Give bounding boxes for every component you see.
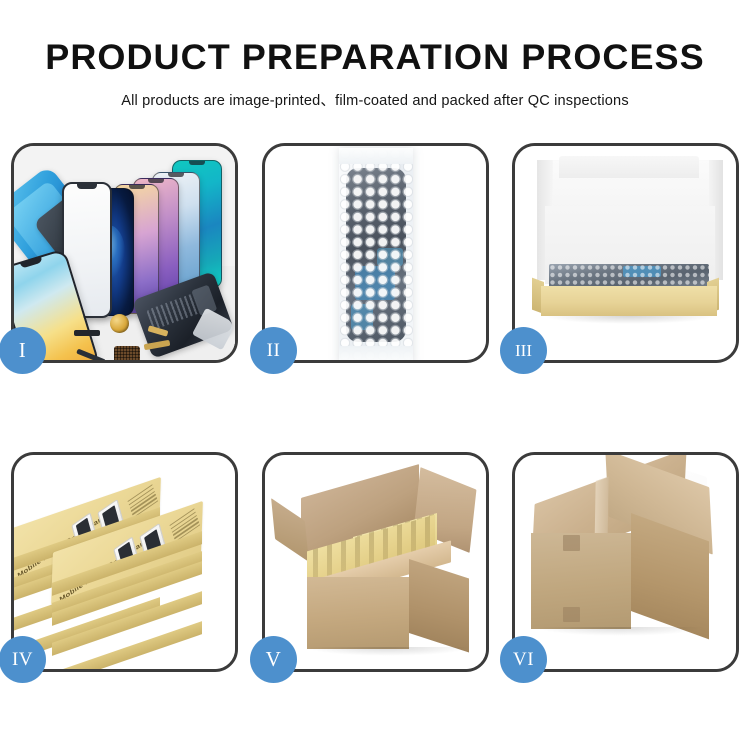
- carton-front-face: [531, 533, 631, 629]
- step-panel-1: I: [11, 143, 238, 363]
- bubble-wrap-bag: [339, 148, 413, 360]
- bubble-texture-highlight: [339, 148, 413, 360]
- gold-connector-part: [144, 340, 171, 350]
- earpiece-speaker-part: [74, 330, 100, 336]
- notch-icon: [168, 173, 184, 177]
- step-panel-2: II: [262, 143, 489, 363]
- drop-shadow: [535, 627, 705, 636]
- page-title: PRODUCT PREPARATION PROCESS: [0, 40, 750, 75]
- retail-box-stack: Mobile Phone Spare Parts: [18, 471, 235, 667]
- bag-seal-bottom: [339, 346, 413, 360]
- speaker-mesh-part: [114, 346, 140, 360]
- step-badge-6: VI: [500, 636, 547, 683]
- step-image-5: [265, 455, 486, 669]
- step-badge-1: I: [0, 327, 46, 374]
- mailer-box-front-wall: [541, 286, 717, 316]
- flex-cable-part: [76, 349, 106, 360]
- step-panel-6: VI: [512, 452, 739, 672]
- step-badge-2: II: [250, 327, 297, 374]
- step-image-4: Mobile Phone Spare Parts: [14, 455, 235, 669]
- page-subtitle: All products are image-printed、film-coat…: [0, 89, 750, 110]
- header: PRODUCT PREPARATION PROCESS All products…: [0, 0, 750, 110]
- step-image-6: [515, 455, 736, 669]
- steps-row-1: I II: [0, 143, 750, 363]
- notch-icon: [148, 179, 164, 183]
- step-panel-5: V: [262, 452, 489, 672]
- carton-handle-tab: [563, 607, 580, 622]
- steps-grid: I II: [0, 143, 750, 750]
- bag-seal-top: [339, 148, 413, 164]
- steps-row-2: Mobile Phone Spare Parts: [0, 452, 750, 672]
- step-image-1: [14, 146, 235, 360]
- vibration-coil-part: [110, 314, 129, 333]
- carton-side-face: [409, 559, 469, 652]
- carton-handle-tab: [563, 535, 580, 551]
- step-panel-3: III: [512, 143, 739, 363]
- drop-shadow: [305, 647, 471, 656]
- step-badge-4: IV: [0, 636, 46, 683]
- step-panel-4: Mobile Phone Spare Parts: [11, 452, 238, 672]
- product-preparation-infographic: PRODUCT PREPARATION PROCESS All products…: [0, 0, 750, 750]
- step-badge-3: III: [500, 327, 547, 374]
- gold-connector-part: [148, 325, 169, 336]
- step-badge-5: V: [250, 636, 297, 683]
- drop-shadow: [543, 316, 715, 324]
- notch-icon: [129, 185, 145, 189]
- step-image-2: [265, 146, 486, 360]
- notch-icon: [189, 161, 205, 165]
- step-image-3: [515, 146, 736, 360]
- carton-front-face: [307, 577, 409, 649]
- spare-parts-group: [70, 324, 206, 360]
- mailer-lid-fold: [559, 156, 699, 178]
